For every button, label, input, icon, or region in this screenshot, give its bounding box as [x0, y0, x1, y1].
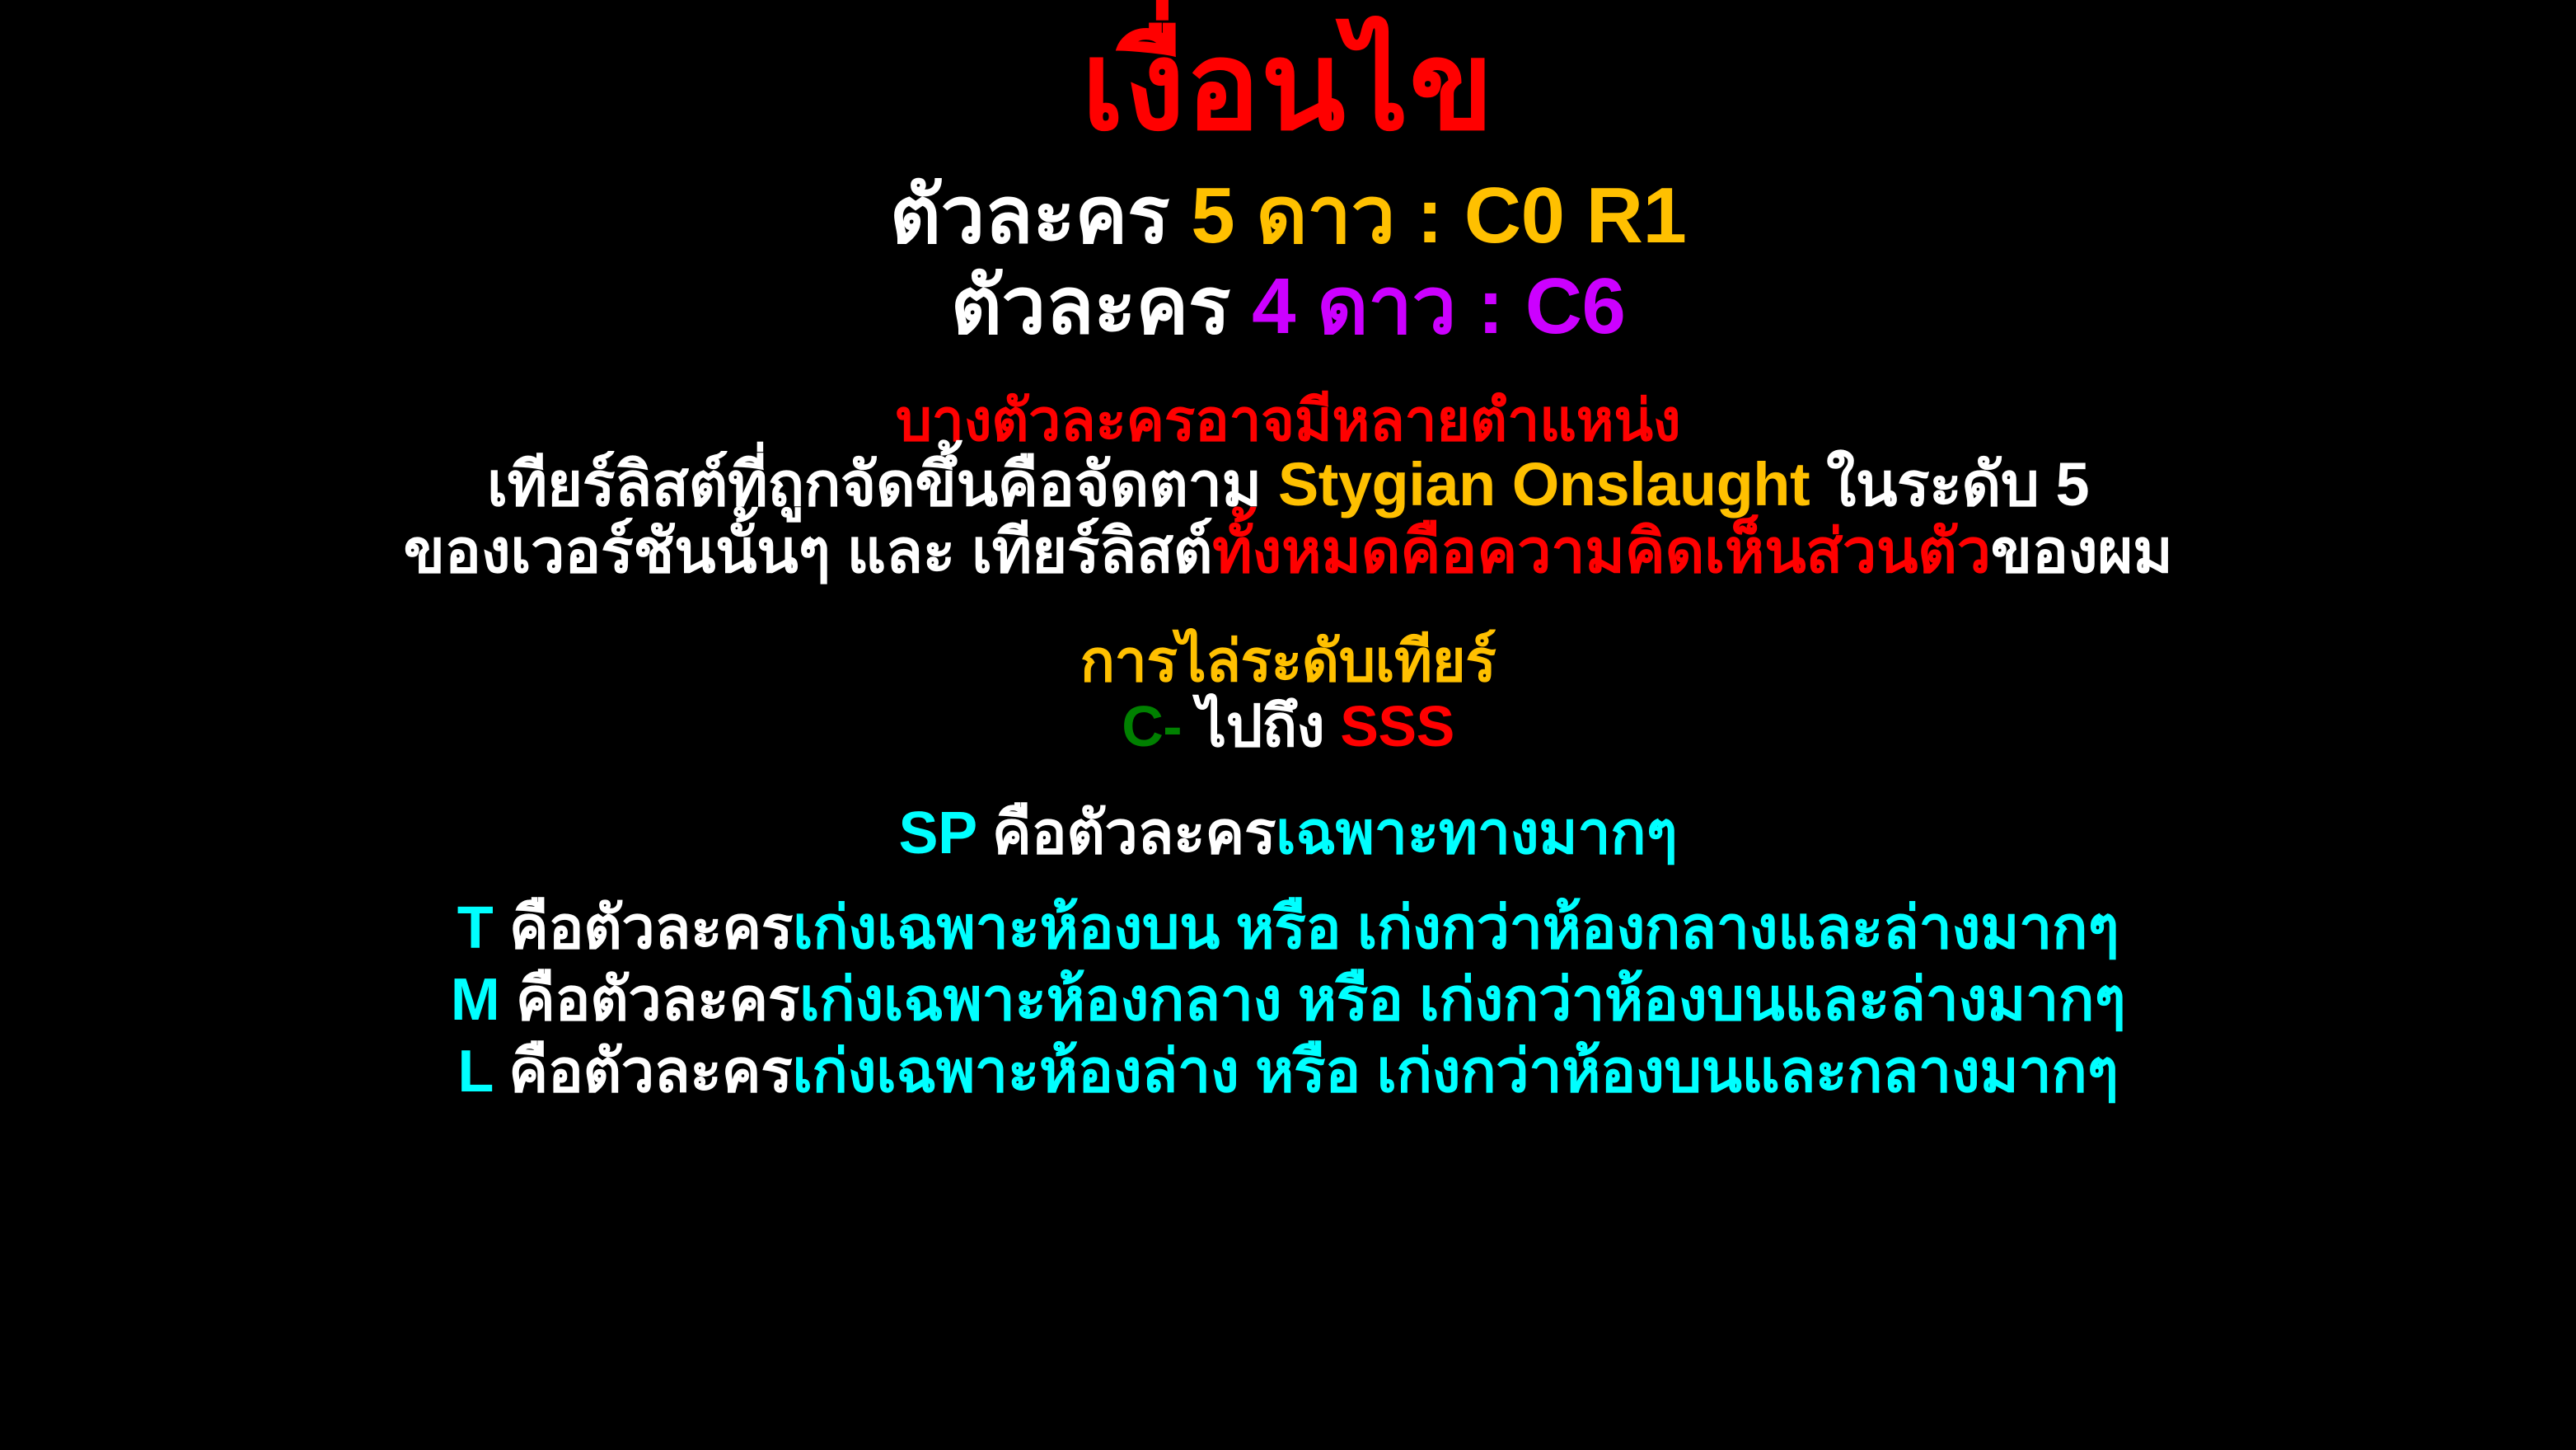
page-title: เงื่อนไข [1081, 21, 1494, 150]
tier-scale-group: การไล่ระดับเทียร์ C- ไปถึง SSS [1080, 631, 1496, 757]
sp-label: คือตัวละคร [976, 800, 1276, 866]
room-definition-row: T คือตัวละครเก่งเฉพาะห้องบน หรือ เก่งกว่… [457, 898, 2119, 960]
sp-code: SP [899, 800, 977, 866]
sp-definition-row: SP คือตัวละครเฉพาะทางมากๆ [899, 803, 1678, 865]
room-definitions-group: T คือตัวละครเก่งเฉพาะห้องบน หรือ เก่งกว่… [451, 898, 2126, 1103]
room-code-l: L [457, 1039, 492, 1105]
sp-description: เฉพาะทางมากๆ [1276, 800, 1677, 866]
notes-line2-prefix: ของเวอร์ชันนั้นๆ และ เทียร์ลิสต์ [404, 517, 1213, 585]
sp-definition-group: SP คือตัวละครเฉพาะทางมากๆ [899, 803, 1678, 865]
notes-line2-disclaimer: ทั้งหมดคือความคิดเห็นส่วนตัว [1212, 517, 1991, 585]
tier-list-conditions-slide: เงื่อนไข ตัวละคร 5 ดาว : C0 R1 ตัวละคร 4… [0, 0, 2576, 1450]
notes-line2-suffix: ของผม [1991, 517, 2173, 585]
notes-line1-prefix: เทียร์ลิสต์ที่ถูกจัดขึ้นคือจัดตาม [487, 450, 1278, 519]
room-label-l: คือตัวละคร [493, 1039, 793, 1105]
tier-scale-connector: ไปถึง [1182, 694, 1340, 758]
room-definition-row: M คือตัวละครเก่งเฉพาะห้องกลาง หรือ เก่งก… [451, 969, 2126, 1031]
tier-scale-heading: การไล่ระดับเทียร์ [1080, 631, 1496, 692]
notes-group: บางตัวละครอาจมีหลายตำแหน่ง เทียร์ลิสต์ที… [404, 391, 2173, 584]
room-definition-row: L คือตัวละครเก่งเฉพาะห้องล่าง หรือ เก่งก… [457, 1041, 2118, 1103]
notes-line1-mode-name: Stygian Onslaught [1278, 450, 1810, 519]
rarity-five-star-label: ตัวละคร [890, 171, 1169, 260]
room-description-m: เก่งเฉพาะห้องกลาง หรือ เก่งกว่าห้องบนและ… [799, 967, 2125, 1033]
rarity-conditions-group: ตัวละคร 5 ดาว : C0 R1 ตัวละคร 4 ดาว : C6 [890, 175, 1687, 348]
notes-heading: บางตัวละครอาจมีหลายตำแหน่ง [896, 391, 1681, 451]
notes-line1-suffix: ในระดับ 5 [1810, 450, 2089, 519]
room-code-m: M [451, 967, 499, 1033]
rarity-five-star-value: 5 ดาว : C0 R1 [1191, 171, 1686, 260]
room-description-l: เก่งเฉพาะห้องล่าง หรือ เก่งกว่าห้องบนและ… [792, 1039, 2118, 1105]
rarity-four-star-label: ตัวละคร [951, 262, 1230, 350]
tier-scale-highest: SSS [1340, 694, 1454, 758]
room-label-t: คือตัวละคร [493, 895, 793, 961]
room-label-m: คือตัวละคร [499, 967, 799, 1033]
notes-line-2: ของเวอร์ชันนั้นๆ และ เทียร์ลิสต์ทั้งหมดค… [404, 520, 2173, 584]
rarity-four-star-value: 4 ดาว : C6 [1252, 262, 1625, 350]
tier-scale-lowest: C- [1122, 694, 1182, 758]
rarity-row-four-star: ตัวละคร 4 ดาว : C6 [951, 265, 1626, 348]
notes-line-1: เทียร์ลิสต์ที่ถูกจัดขึ้นคือจัดตาม Stygia… [487, 453, 2089, 517]
rarity-row-five-star: ตัวละคร 5 ดาว : C0 R1 [890, 175, 1687, 257]
room-code-t: T [457, 895, 493, 961]
tier-scale-range: C- ไปถึง SSS [1122, 697, 1454, 757]
room-description-t: เก่งเฉพาะห้องบน หรือ เก่งกว่าห้องกลางและ… [793, 895, 2119, 961]
